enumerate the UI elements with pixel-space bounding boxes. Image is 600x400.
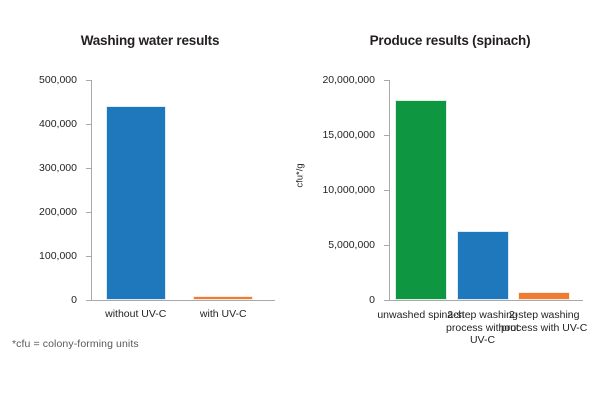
y-axis-tick: 15,000,000	[384, 135, 389, 136]
plot-area-washing-water: 500,000400,000300,000200,000100,0000 wit…	[92, 80, 267, 300]
y-axis-tick-label: 15,000,000	[322, 130, 375, 141]
y-axis-tick-label: 100,000	[39, 251, 77, 262]
chart-panel-washing-water: Washing water results cfu*/ml 500,000400…	[0, 0, 300, 400]
bar-slot: without UV-C	[92, 80, 180, 300]
y-axis-tick-label: 5,000,000	[328, 240, 375, 251]
y-axis-tick: 10,000,000	[384, 190, 389, 191]
y-axis-tick-label: 20,000,000	[322, 75, 375, 86]
figure-canvas: Washing water results cfu*/ml 500,000400…	[0, 0, 600, 400]
bar[interactable]	[193, 296, 253, 300]
plot-area-produce-spinach: 20,000,00015,000,00010,000,0005,000,0000…	[390, 80, 575, 300]
bar-slot: 2-step washing process with UV-C	[513, 80, 575, 300]
y-axis-title-produce-spinach: cfu*/g	[295, 146, 306, 206]
footnote-cfu: *cfu = colony-forming units	[12, 338, 139, 350]
x-axis-line	[91, 300, 275, 301]
y-axis-tick: 20,000,000	[384, 80, 389, 81]
y-axis-tick-label: 400,000	[39, 119, 77, 130]
x-axis-category-label: 2-step washing process with UV-C	[498, 309, 590, 334]
y-axis-tick: 300,000	[86, 168, 91, 169]
x-axis-line	[389, 300, 583, 301]
y-axis-tick-label: 300,000	[39, 163, 77, 174]
bar-slot: 2-step washing process without UV-C	[452, 80, 514, 300]
chart-title-washing-water: Washing water results	[0, 33, 300, 48]
x-axis-category-label: with UV-C	[173, 308, 273, 321]
x-axis-category-label: without UV-C	[86, 308, 186, 321]
y-axis-tick: 200,000	[86, 212, 91, 213]
bar-group-produce-spinach: unwashed spinach2-step washing process w…	[390, 80, 575, 300]
y-axis-tick-label: 0	[71, 295, 77, 306]
y-axis-tick-label: 500,000	[39, 75, 77, 86]
bar-slot: with UV-C	[180, 80, 268, 300]
bar-group-washing-water: without UV-Cwith UV-C	[92, 80, 267, 300]
y-axis-tick: 400,000	[86, 124, 91, 125]
y-axis-tick-label: 10,000,000	[322, 185, 375, 196]
chart-title-produce-spinach: Produce results (spinach)	[300, 33, 600, 48]
y-axis-tick: 0	[384, 300, 389, 301]
y-axis-tick: 500,000	[86, 80, 91, 81]
y-axis-tick: 0	[86, 300, 91, 301]
y-axis-tick: 100,000	[86, 256, 91, 257]
y-axis-tick-label: 0	[369, 295, 375, 306]
bar[interactable]	[395, 100, 447, 300]
bar-slot: unwashed spinach	[390, 80, 452, 300]
bar[interactable]	[106, 106, 166, 300]
y-axis-tick-label: 200,000	[39, 207, 77, 218]
bar[interactable]	[457, 231, 509, 300]
y-axis-tick: 5,000,000	[384, 245, 389, 246]
bar[interactable]	[518, 292, 570, 300]
